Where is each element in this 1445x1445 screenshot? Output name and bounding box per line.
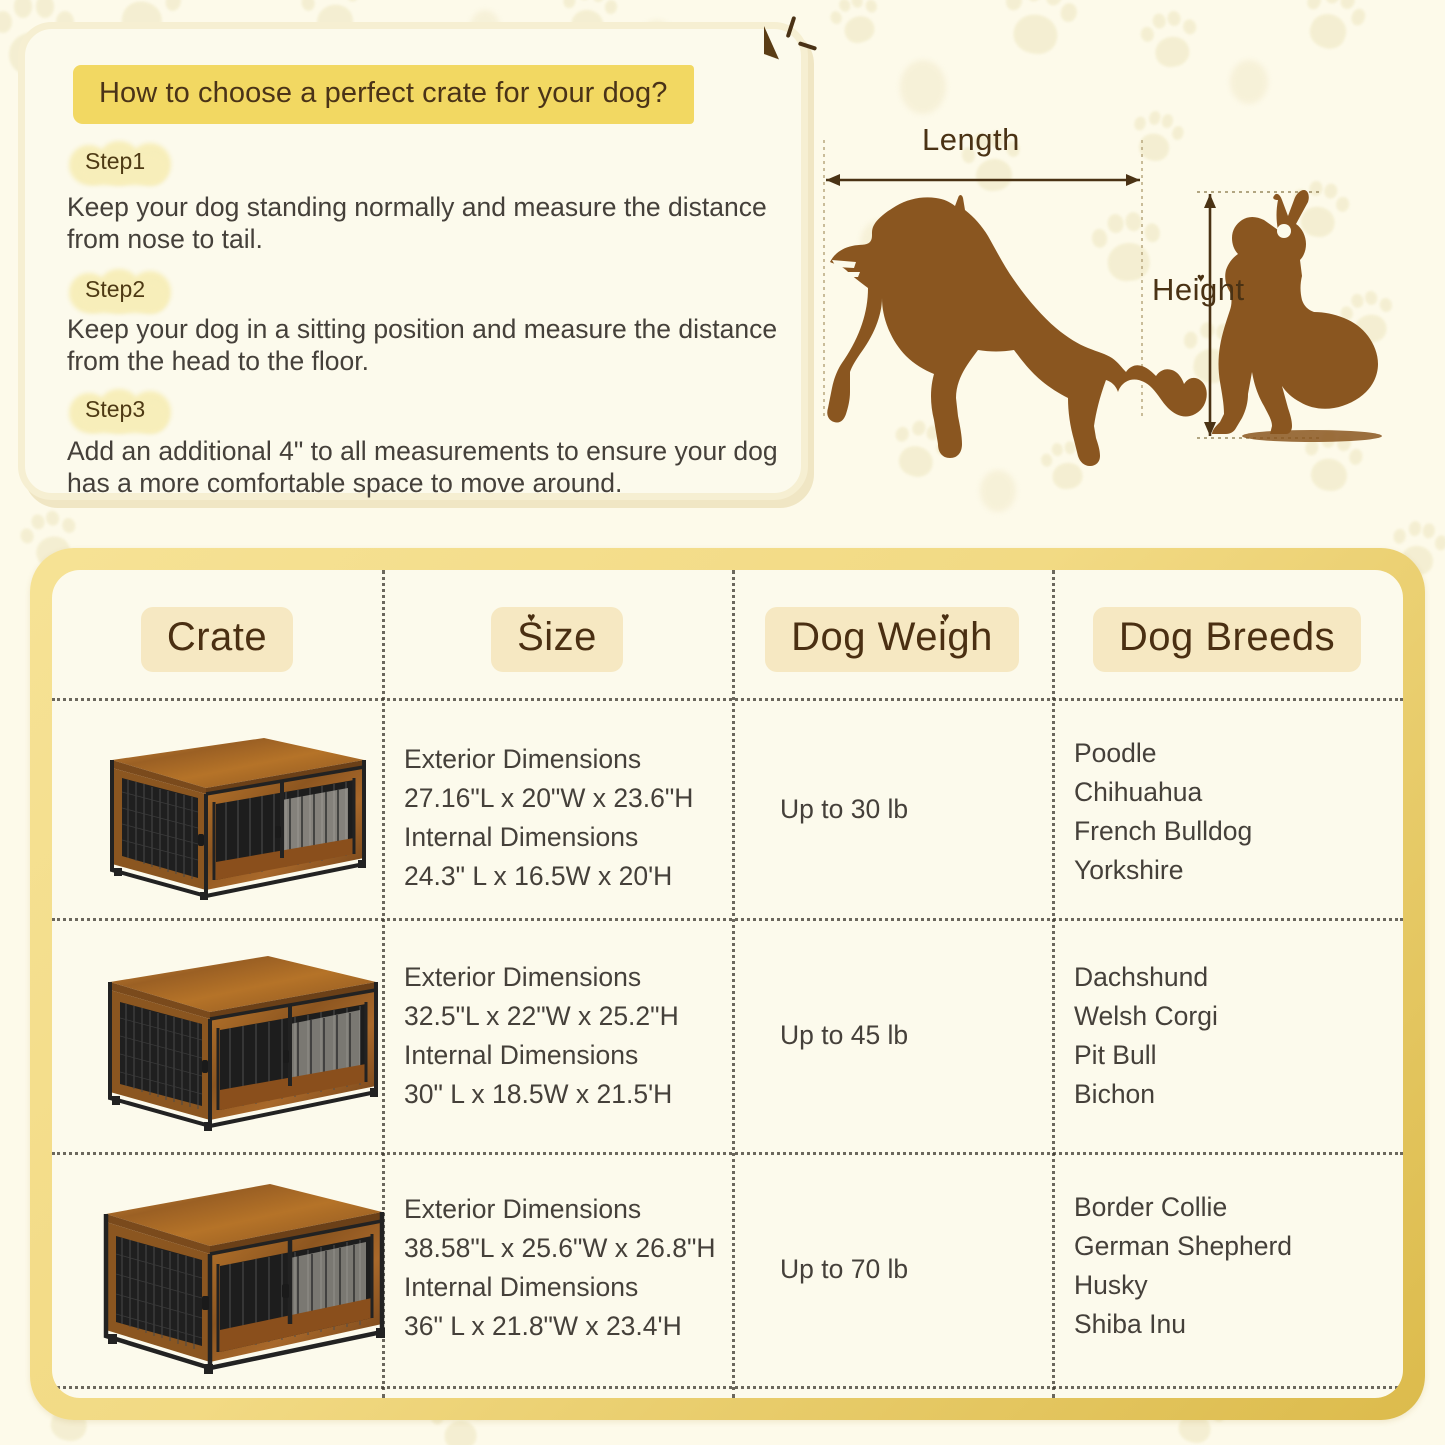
dog-measurement-diagram: Length Height ♥ (812, 120, 1437, 490)
cell-weight-row-2: Up to 45 lb (752, 918, 1052, 1152)
page-title: How to choose a perfect crate for your d… (73, 65, 694, 124)
column-divider (1052, 570, 1055, 1398)
step-2-pill: Step2 (67, 269, 163, 312)
step-3-pill: Step3 (67, 389, 163, 432)
card-title-banner: How to choose a perfect crate for your d… (73, 65, 694, 124)
step-1-label-wrap: Step1 (67, 141, 163, 184)
breeds-text: Dachshund Welsh Corgi Pit Bull Bichon (1074, 958, 1394, 1114)
size-text: Exterior Dimensions 32.5"L x 22"W x 25.2… (404, 958, 724, 1114)
step-2-label-wrap: Step2 (67, 269, 163, 312)
row-divider (52, 1386, 1403, 1389)
row-divider (52, 698, 1403, 701)
header-label-dog-breeds: Dog Breeds (1119, 615, 1335, 659)
step-2-label: Step2 (85, 276, 145, 302)
cell-size-row-1: Exterior Dimensions 27.16"L x 20"W x 23.… (404, 740, 724, 896)
dog-diagram-svg (812, 120, 1437, 490)
weight-text: Up to 30 lb (780, 790, 908, 829)
table-header-crate: Crate (52, 584, 382, 694)
step-3-label: Step3 (85, 396, 145, 422)
breeds-text: Poodle Chihuahua French Bulldog Yorkshir… (1074, 734, 1394, 890)
table-header-size: Size ♥ (382, 584, 732, 694)
table-row (86, 730, 374, 902)
row-divider (52, 1152, 1403, 1155)
paw-icon (993, 0, 1085, 63)
table-row (86, 948, 386, 1134)
step-2-text: Keep your dog in a sitting position and … (67, 313, 787, 378)
table-header-dog-weigh: Dog Weigh ♥ (732, 584, 1052, 694)
step-3-label-wrap: Step3 (67, 389, 163, 432)
how-to-choose-card: How to choose a perfect crate for your d… (18, 22, 808, 500)
heart-dot-icon: ♥ (527, 609, 536, 625)
decor-blob (1230, 60, 1268, 104)
cell-weight-row-1: Up to 30 lb (752, 700, 1052, 918)
crate-size-table: Crate Size ♥ Dog Weigh ♥ Dog Breeds (30, 548, 1425, 1420)
decor-blob (900, 60, 946, 114)
cell-size-row-2: Exterior Dimensions 32.5"L x 22"W x 25.2… (404, 958, 724, 1114)
step-3-text: Add an additional 4" to all measurements… (67, 435, 812, 500)
step-1-label: Step1 (85, 148, 145, 174)
step-1-text: Keep your dog standing normally and meas… (67, 191, 787, 256)
sitting-dog-silhouette (1212, 190, 1378, 434)
infographic-page: How to choose a perfect crate for your d… (0, 0, 1445, 1445)
table-header-dog-breeds: Dog Breeds (1052, 584, 1402, 694)
weight-text: Up to 70 lb (780, 1250, 908, 1289)
table-row (82, 1176, 392, 1376)
length-dimension-label: Length (922, 122, 1020, 158)
weight-text: Up to 45 lb (780, 1016, 908, 1055)
heart-dot-icon: ♥ (941, 609, 950, 625)
cell-size-row-3: Exterior Dimensions 38.58"L x 25.6"W x 2… (404, 1190, 734, 1346)
crate-medium-rustic-brown-icon (86, 948, 386, 1134)
header-label-dog-weigh: Dog Weigh (791, 615, 993, 659)
size-text: Exterior Dimensions 38.58"L x 25.6"W x 2… (404, 1190, 734, 1346)
cell-breeds-row-2: Dachshund Welsh Corgi Pit Bull Bichon (1074, 958, 1394, 1114)
paw-icon (824, 0, 889, 51)
cell-breeds-row-1: Poodle Chihuahua French Bulldog Yorkshir… (1074, 734, 1394, 890)
row-divider (52, 918, 1403, 921)
crate-large-rustic-brown-icon (82, 1176, 392, 1376)
table-body: Crate Size ♥ Dog Weigh ♥ Dog Breeds (52, 570, 1403, 1398)
size-text: Exterior Dimensions 27.16"L x 20"W x 23.… (404, 740, 724, 896)
heart-dot-icon: ♥ (1197, 270, 1205, 285)
header-label-crate: Crate (167, 615, 267, 659)
breeds-text: Border Collie German Shepherd Husky Shib… (1074, 1188, 1403, 1344)
paw-icon (1135, 5, 1204, 73)
cell-weight-row-3: Up to 70 lb (752, 1152, 1052, 1386)
cell-breeds-row-3: Border Collie German Shepherd Husky Shib… (1074, 1188, 1403, 1344)
step-1-pill: Step1 (67, 141, 163, 184)
crate-small-rustic-brown-icon (86, 730, 374, 902)
paw-icon (1291, 0, 1375, 59)
standing-dog-silhouette (827, 195, 1207, 466)
